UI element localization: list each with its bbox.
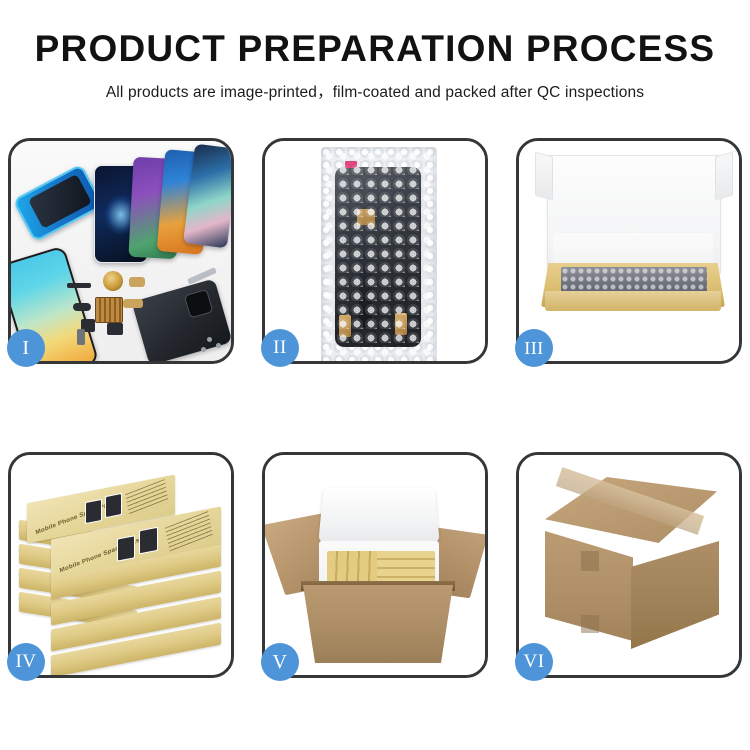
connector-part (77, 329, 85, 345)
box-screen-image-1 (117, 535, 135, 561)
box-screen-image-1 (85, 499, 102, 524)
carton-body (303, 585, 453, 663)
screw-part-3 (201, 347, 206, 352)
retail-box-stack: Mobile Phone Spare Parts Mobile Phone Sp… (17, 475, 231, 665)
process-step-panel-2[interactable]: II (262, 138, 488, 364)
box-screen-image-2 (105, 493, 122, 518)
screw-part (207, 337, 212, 342)
process-steps-grid: I II III (8, 138, 742, 678)
earpiece-part (67, 283, 91, 288)
step-2-image (265, 141, 485, 361)
lcd-flex-strip (359, 225, 372, 327)
phone-back-cover (132, 278, 231, 361)
process-step-panel-5[interactable]: V (262, 452, 488, 678)
process-step-panel-1[interactable]: I (8, 138, 234, 364)
box-screen-image-2 (139, 527, 158, 555)
flex-cable-part (129, 277, 145, 287)
step-badge-3: III (515, 329, 553, 367)
speaker-part (103, 271, 123, 291)
step-1-image (11, 141, 231, 361)
process-step-panel-3[interactable]: III (516, 138, 742, 364)
step-badge-6: VI (515, 643, 553, 681)
step-badge-5: V (261, 643, 299, 681)
process-step-panel-4[interactable]: Mobile Phone Spare Parts Mobile Phone Sp… (8, 452, 234, 678)
lcd-tab-right (395, 313, 407, 335)
foam-box-lid (318, 488, 439, 543)
step-6-image (519, 455, 739, 675)
screw-part-2 (216, 343, 221, 348)
process-step-panel-6[interactable]: VI (516, 452, 742, 678)
button-part (73, 303, 91, 311)
step-5-image (265, 455, 485, 675)
chip-part (95, 297, 123, 323)
bubble-wrap-bag (321, 147, 437, 361)
adhesive-frame-part (12, 163, 103, 242)
step-badge-4: IV (7, 643, 45, 681)
kraft-box-front-wall (545, 291, 721, 311)
page-header: PRODUCT PREPARATION PROCESS All products… (0, 0, 750, 102)
carton-right-face (631, 541, 719, 649)
qc-pink-label (345, 161, 357, 168)
flex-cable-part-2 (123, 299, 143, 308)
step-badge-2: II (261, 329, 299, 367)
module-part (107, 323, 123, 335)
carton-seam-upper (581, 551, 599, 571)
page-subtitle: All products are image-printed，film-coat… (0, 80, 750, 102)
step-3-image (519, 141, 739, 361)
step-badge-1: I (7, 329, 45, 367)
carton-seam-lower (581, 615, 599, 633)
step-4-image: Mobile Phone Spare Parts Mobile Phone Sp… (11, 455, 231, 675)
page-title: PRODUCT PREPARATION PROCESS (0, 30, 750, 69)
lcd-tab-left (339, 315, 351, 337)
